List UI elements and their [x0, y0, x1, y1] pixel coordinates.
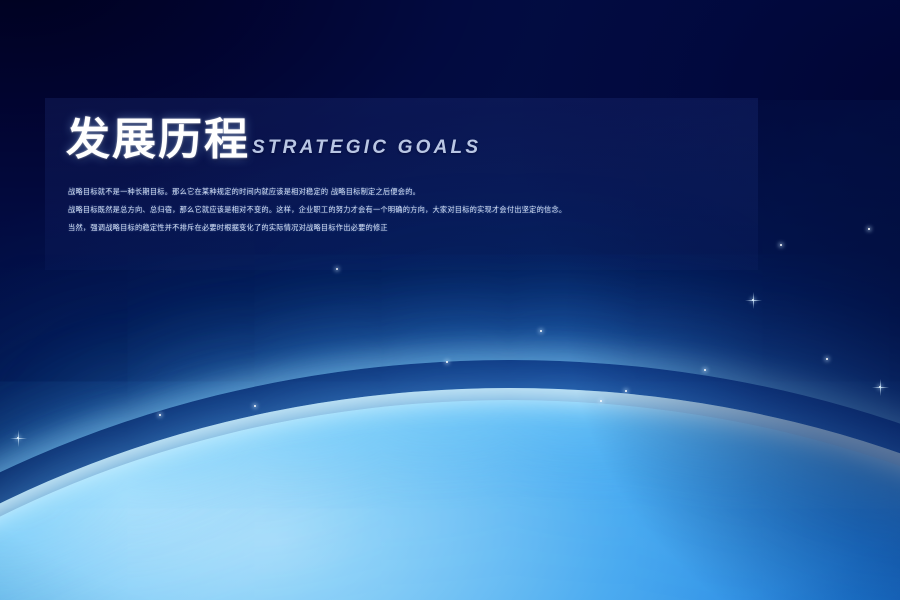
star-icon — [600, 400, 602, 402]
page-title: 发展历程 — [66, 118, 250, 162]
star-icon — [780, 244, 782, 246]
star-icon — [704, 369, 706, 371]
star-icon — [540, 330, 542, 332]
star-icon — [625, 390, 627, 392]
banner-scene: 发展历程 STRATEGIC GOALS 战略目标就不是一种长期目标。那么它在某… — [0, 0, 900, 600]
banner-heading: 发展历程 STRATEGIC GOALS — [66, 118, 481, 162]
star-icon — [254, 405, 256, 407]
body-line: 战略目标就不是一种长期目标。那么它在某种规定的时间内就应该是相对稳定的 战略目标… — [68, 186, 768, 197]
star-icon — [17, 437, 19, 439]
star-icon — [159, 414, 161, 416]
star-icon — [752, 299, 754, 301]
body-line: 战略目标既然是总方向、总归宿，那么它就应该是相对不变的。这样，企业职工的努力才会… — [68, 204, 768, 215]
star-icon — [879, 386, 881, 388]
star-icon — [826, 358, 828, 360]
page-subtitle: STRATEGIC GOALS — [252, 137, 481, 162]
banner-body-copy: 战略目标就不是一种长期目标。那么它在某种规定的时间内就应该是相对稳定的 战略目标… — [68, 186, 768, 240]
star-icon — [446, 361, 448, 363]
star-icon — [868, 228, 870, 230]
body-line: 当然，强调战略目标的稳定性并不排斥在必要时根据变化了的实际情况对战略目标作出必要… — [68, 222, 768, 233]
